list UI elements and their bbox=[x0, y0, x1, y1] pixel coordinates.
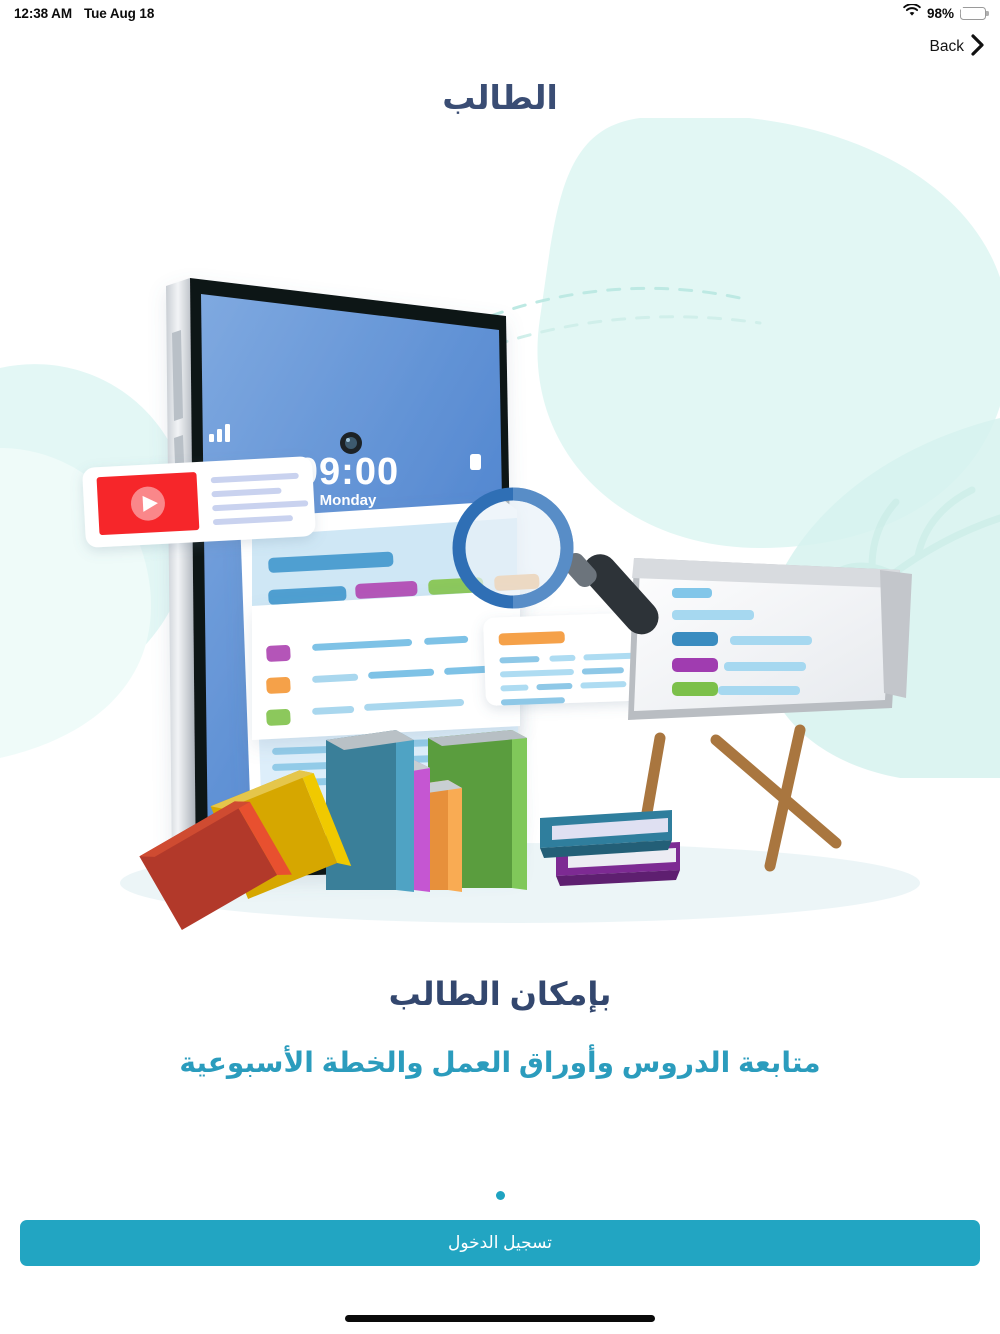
login-button[interactable]: تسجيل الدخول bbox=[20, 1220, 980, 1266]
phone-battery-icon bbox=[470, 454, 481, 470]
back-button[interactable]: Back bbox=[930, 34, 986, 59]
status-bar-left: 12:38 AM Tue Aug 18 bbox=[14, 6, 154, 21]
status-bar: 12:38 AM Tue Aug 18 98% bbox=[0, 0, 1000, 26]
subheadline: متابعة الدروس وأوراق العمل والخطة الأسبو… bbox=[0, 1046, 1000, 1079]
home-indicator[interactable] bbox=[345, 1315, 655, 1322]
page-indicator bbox=[0, 1191, 1000, 1200]
phone-clock-day: Monday bbox=[320, 492, 377, 509]
page-title: الطالب bbox=[0, 78, 1000, 117]
battery-percent-label: 98% bbox=[927, 6, 954, 21]
bullet-list-panel bbox=[252, 590, 520, 740]
status-bar-right: 98% bbox=[903, 4, 986, 22]
status-date: Tue Aug 18 bbox=[84, 6, 154, 21]
headline: بإمكان الطالب bbox=[0, 975, 1000, 1013]
status-time: 12:38 AM bbox=[14, 6, 72, 21]
battery-charging-icon bbox=[960, 7, 986, 20]
wifi-icon bbox=[903, 4, 921, 22]
back-button-label: Back bbox=[930, 38, 964, 56]
onboarding-illustration: 09:00 Monday bbox=[0, 118, 1000, 948]
video-card bbox=[82, 456, 316, 548]
onboarding-screen: 12:38 AM Tue Aug 18 98% bbox=[0, 0, 1000, 1334]
nav-bar: Back bbox=[0, 32, 1000, 70]
page-dot-1[interactable] bbox=[496, 1191, 505, 1200]
chevron-right-icon bbox=[970, 34, 986, 59]
floating-note-card bbox=[483, 612, 646, 706]
